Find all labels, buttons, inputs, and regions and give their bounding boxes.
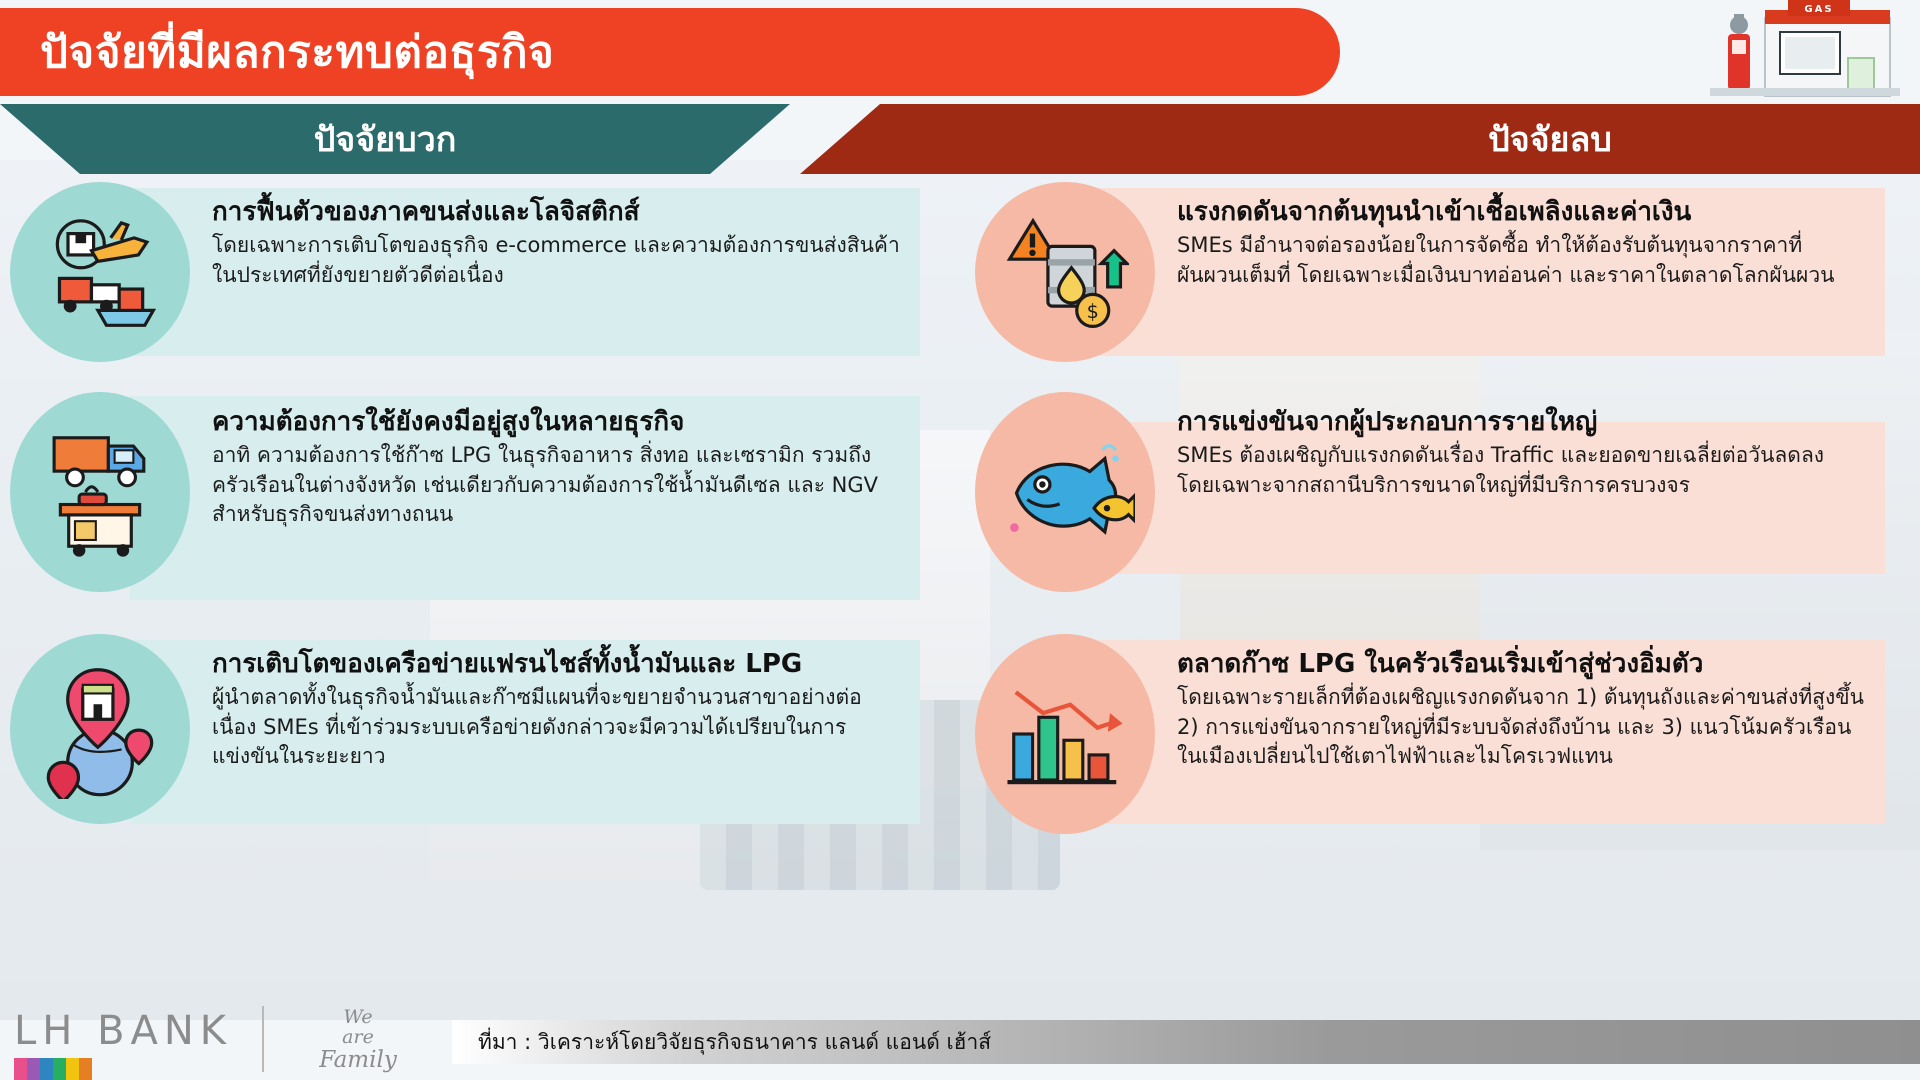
footer-divider — [262, 1006, 264, 1072]
store-location-pin-icon — [10, 634, 190, 824]
positive-factor-column: การฟื้นตัวของภาคขนส่งและโลจิสติกส์ โดยเฉ… — [10, 182, 920, 860]
tab-negative-label: ปัจจัยลบ — [1488, 112, 1612, 166]
negative-card-1[interactable]: $ แรงกดดันจากต้นทุนนำเข้าเชื้อเพลิงและค่… — [975, 182, 1885, 362]
big-fish-small-fish-icon — [975, 392, 1155, 592]
card-heading: การแข่งขันจากผู้ประกอบการรายใหญ่ — [1177, 406, 1867, 439]
truck-foodcart-icon — [10, 392, 190, 592]
positive-card-2[interactable]: ความต้องการใช้ยังคงมีอยู่สูงในหลายธุรกิจ… — [10, 392, 920, 604]
tab-positive-label: ปัจจัยบวก — [314, 112, 457, 166]
card-body: อาทิ ความต้องการใช้ก๊าซ LPG ในธุรกิจอาหา… — [212, 441, 902, 529]
card-heading: การเติบโตของเครือข่ายแฟรนไชส์ทั้งน้ำมันแ… — [212, 648, 902, 681]
oil-barrel-warning-icon: $ — [975, 182, 1155, 362]
svg-text:GAS: GAS — [1804, 4, 1833, 15]
card-body: โดยเฉพาะรายเล็กที่ต้องเผชิญแรงกดดันจาก 1… — [1177, 683, 1867, 771]
declining-bar-chart-icon — [975, 634, 1155, 834]
source-text: ที่มา : วิเคราะห์โดยวิจัยธุรกิจธนาคาร แล… — [478, 1026, 991, 1059]
positive-card-1[interactable]: การฟื้นตัวของภาคขนส่งและโลจิสติกส์ โดยเฉ… — [10, 182, 920, 362]
svg-text:$: $ — [1087, 300, 1099, 323]
card-heading: การฟื้นตัวของภาคขนส่งและโลจิสติกส์ — [212, 196, 902, 229]
column-tabs: ปัจจัยบวก ปัจจัยลบ — [0, 104, 1920, 174]
header-bar: ปัจจัยที่มีผลกระทบต่อธุรกิจ — [0, 8, 1340, 96]
card-body: โดยเฉพาะการเติบโตของธุรกิจ e-commerce แล… — [212, 231, 902, 290]
card-body: SMEs มีอำนาจต่อรองน้อยในการจัดซื้อ ทำให้… — [1177, 231, 1867, 290]
source-bar: ที่มา : วิเคราะห์โดยวิจัยธุรกิจธนาคาร แล… — [452, 1020, 1920, 1064]
card-text: แรงกดดันจากต้นทุนนำเข้าเชื้อเพลิงและค่าเ… — [1155, 182, 1885, 306]
card-body: SMEs ต้องเผชิญกับแรงกดดันเรื่อง Traffic … — [1177, 441, 1867, 500]
tagline-line-3: Family — [288, 1048, 428, 1072]
card-body: ผู้นำตลาดทั้งในธุรกิจน้ำมันและก๊าซมีแผนท… — [212, 683, 902, 771]
card-heading: ความต้องการใช้ยังคงมีอยู่สูงในหลายธุรกิจ — [212, 406, 902, 439]
brand-tagline: We are Family — [288, 1008, 428, 1074]
page-title: ปัจจัยที่มีผลกระทบต่อธุรกิจ — [40, 17, 554, 87]
negative-factor-column: $ แรงกดดันจากต้นทุนนำเข้าเชื้อเพลิงและค่… — [975, 182, 1885, 860]
card-text: การฟื้นตัวของภาคขนส่งและโลจิสติกส์ โดยเฉ… — [190, 182, 920, 306]
card-text: ความต้องการใช้ยังคงมีอยู่สูงในหลายธุรกิจ… — [190, 392, 920, 545]
infographic-stage: ปัจจัยที่มีผลกระทบต่อธุรกิจ GAS ปัจจัยบว… — [0, 0, 1920, 1080]
card-heading: ตลาดก๊าซ LPG ในครัวเรือนเริ่มเข้าสู่ช่วง… — [1177, 648, 1867, 681]
negative-card-2[interactable]: การแข่งขันจากผู้ประกอบการรายใหญ่ SMEs ต้… — [975, 392, 1885, 604]
tagline-line-1: We — [288, 1008, 428, 1028]
negative-card-3[interactable]: ตลาดก๊าซ LPG ในครัวเรือนเริ่มเข้าสู่ช่วง… — [975, 634, 1885, 830]
footer: LH BANK We are Family ที่มา : วิเคราะห์โ… — [0, 1002, 1920, 1080]
gas-station-icon: GAS — [1670, 0, 1900, 120]
logistics-transport-icon — [10, 182, 190, 362]
positive-card-3[interactable]: การเติบโตของเครือข่ายแฟรนไชส์ทั้งน้ำมันแ… — [10, 634, 920, 830]
tab-positive-factors[interactable]: ปัจจัยบวก — [0, 104, 790, 174]
card-text: การแข่งขันจากผู้ประกอบการรายใหญ่ SMEs ต้… — [1155, 392, 1885, 516]
card-text: ตลาดก๊าซ LPG ในครัวเรือนเริ่มเข้าสู่ช่วง… — [1155, 634, 1885, 787]
card-heading: แรงกดดันจากต้นทุนนำเข้าเชื้อเพลิงและค่าเ… — [1177, 196, 1867, 229]
tagline-line-2: are — [288, 1028, 428, 1048]
card-text: การเติบโตของเครือข่ายแฟรนไชส์ทั้งน้ำมันแ… — [190, 634, 920, 787]
